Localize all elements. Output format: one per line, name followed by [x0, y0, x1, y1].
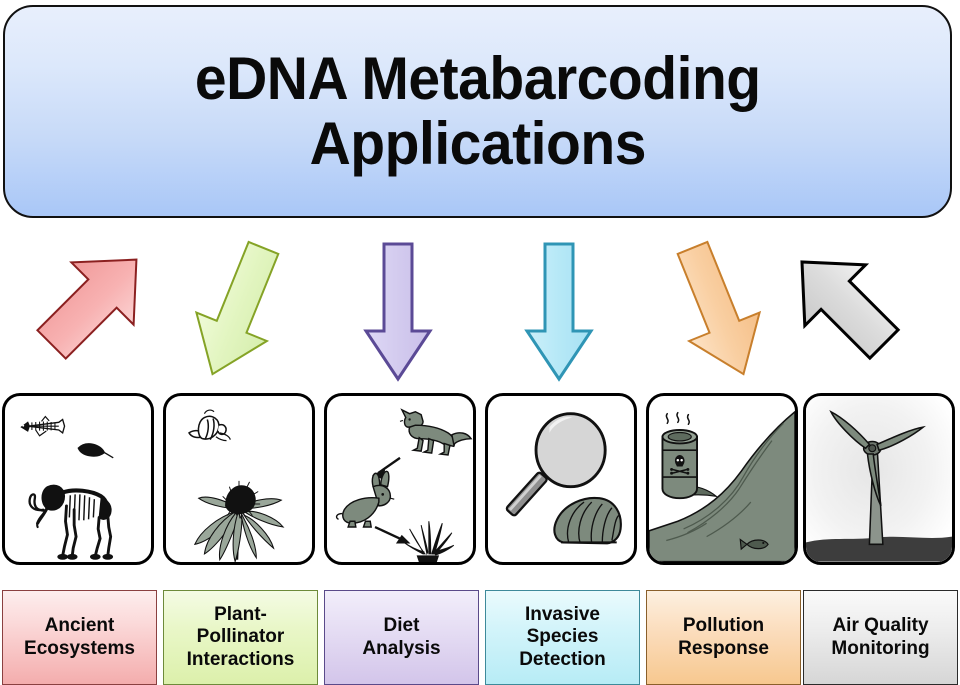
panel-pollution-response [646, 393, 798, 565]
arrow-pollution-response [666, 240, 770, 382]
label-text: Pollution Response [678, 615, 769, 659]
panel-invasive-species [485, 393, 637, 565]
label-text: Ancient Ecosystems [24, 615, 135, 659]
title-line-1: eDNA Metabarcoding [195, 47, 761, 112]
label-air-quality[interactable]: Air Quality Monitoring [803, 590, 958, 685]
fish-skeleton-leaf-mammoth-skeleton-icon [5, 396, 151, 562]
label-text: Invasive Species Detection [519, 604, 606, 670]
panel-air-quality [803, 393, 955, 565]
label-plant-pollinator[interactable]: Plant- Pollinator Interactions [163, 590, 318, 685]
label-text: Diet Analysis [362, 615, 440, 659]
arrow-ancient-ecosystems [28, 240, 160, 364]
panel-ancient-ecosystems [2, 393, 154, 565]
wind-turbine-icon [806, 396, 952, 562]
panel-diet-analysis [324, 393, 476, 565]
page-title: eDNA Metabarcoding Applications [195, 47, 761, 177]
panel-plant-pollinator [163, 393, 315, 565]
label-text: Air Quality Monitoring [831, 615, 929, 659]
arrow-invasive-species [523, 241, 595, 383]
label-invasive-species[interactable]: Invasive Species Detection [485, 590, 640, 685]
label-text: Plant- Pollinator Interactions [187, 604, 295, 670]
arrow-plant-pollinator [186, 240, 290, 382]
label-pollution-response[interactable]: Pollution Response [646, 590, 801, 685]
magnifying-glass-and-mussel-icon [488, 396, 634, 562]
title-line-2: Applications [195, 112, 761, 177]
toxic-barrel-river-fish-icon [649, 396, 795, 562]
arrow-air-quality [778, 242, 908, 364]
label-ancient-ecosystems[interactable]: Ancient Ecosystems [2, 590, 157, 685]
diagram-title-box: eDNA Metabarcoding Applications [3, 5, 952, 218]
bee-and-coneflower-icon [166, 396, 312, 562]
edna-applications-diagram: eDNA Metabarcoding Applications [0, 0, 960, 683]
label-diet-analysis[interactable]: Diet Analysis [324, 590, 479, 685]
fox-rabbit-plant-food-chain-icon [327, 396, 473, 562]
arrow-diet-analysis [362, 241, 434, 383]
